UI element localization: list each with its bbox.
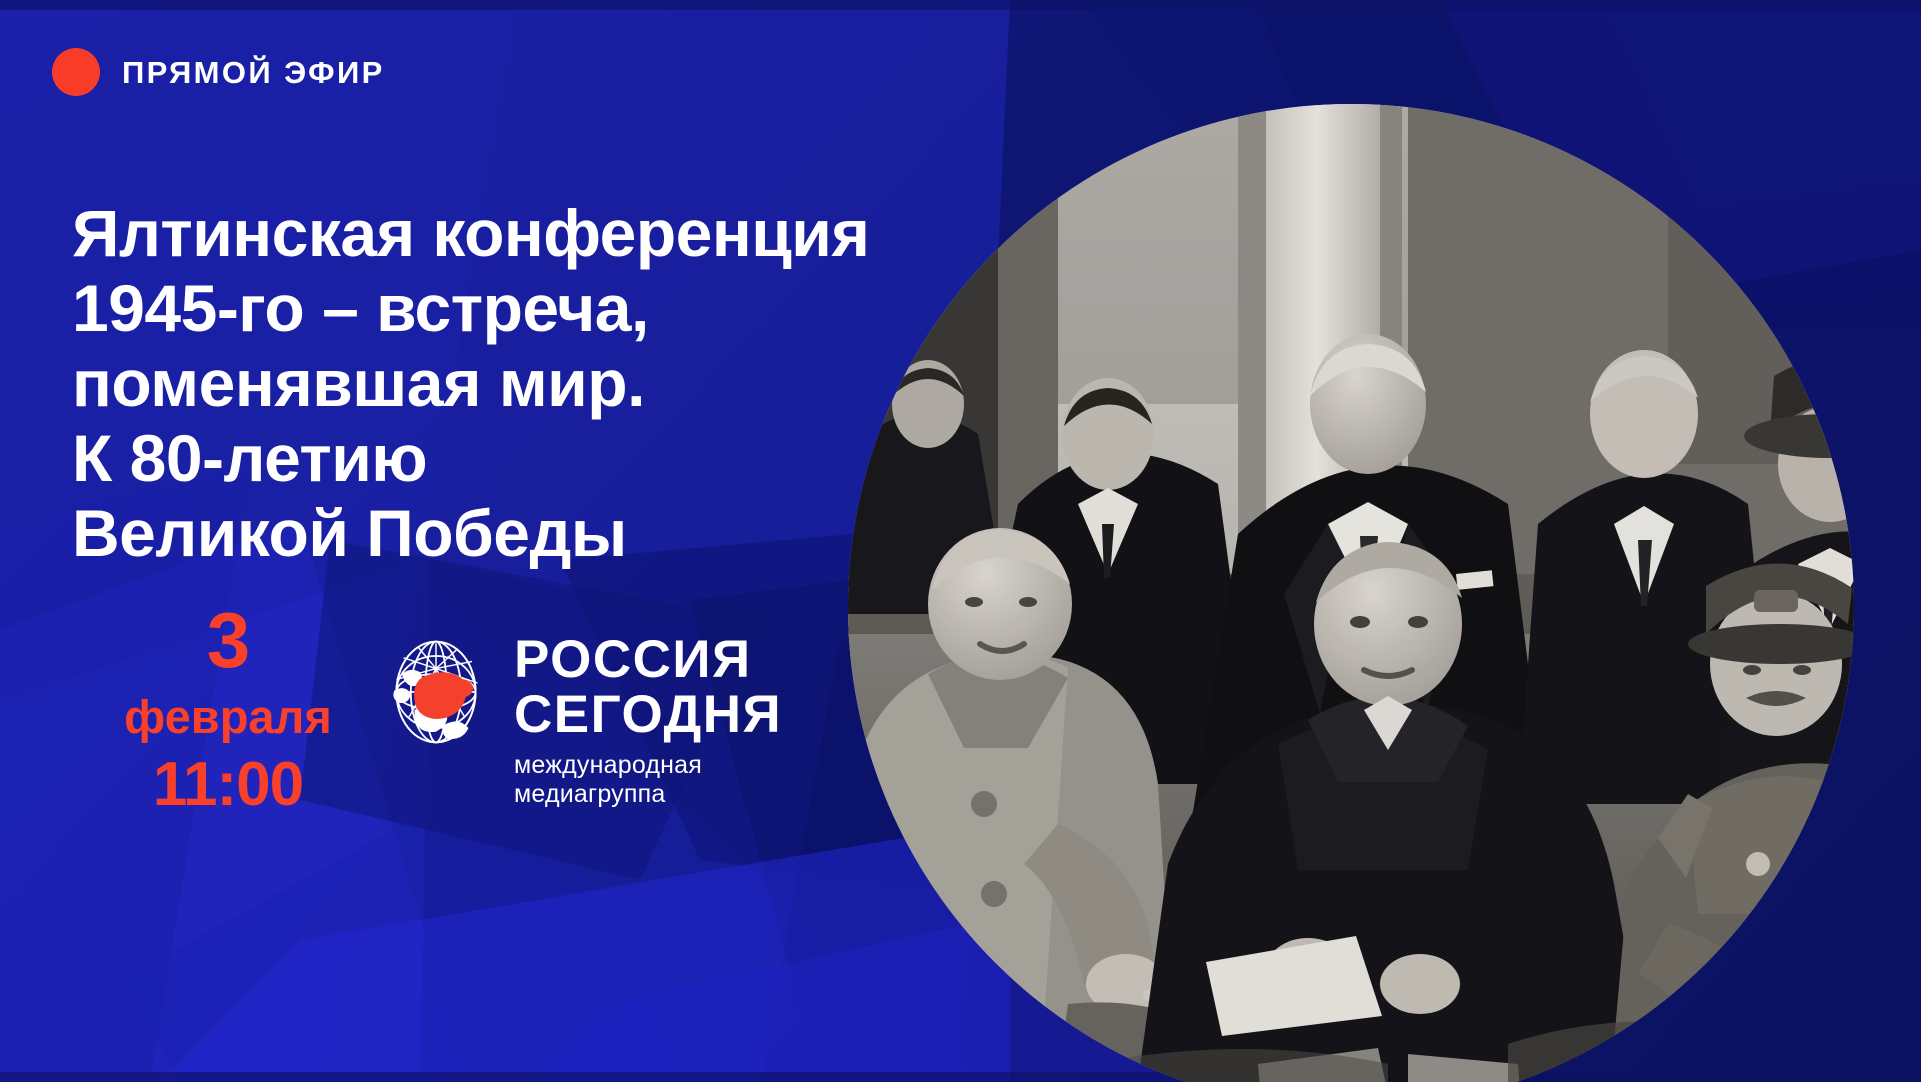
headline-line-4: К 80-летию <box>72 421 1032 496</box>
rossiya-segodnya-logo: РОССИЯ СЕГОДНЯ международная медиагруппа <box>382 632 782 809</box>
logo-wordmark: РОССИЯ СЕГОДНЯ международная медиагруппа <box>514 632 782 809</box>
headline-line-2: 1945-го – встреча, <box>72 271 1032 346</box>
live-dot-icon <box>52 48 100 96</box>
event-datetime: 3 февраля 11:00 <box>88 600 368 820</box>
event-month: февраля <box>88 688 368 747</box>
logo-sub-1: международная <box>514 751 782 780</box>
logo-sub-2: медиагруппа <box>514 780 782 809</box>
logo-line-1: РОССИЯ <box>514 632 782 687</box>
event-time: 11:00 <box>88 749 368 820</box>
announcement-banner: ПРЯМОЙ ЭФИР Ялтинская конференция 1945-г… <box>0 0 1921 1082</box>
event-day: 3 <box>88 600 368 682</box>
headline-line-5: Великой Победы <box>72 496 1032 571</box>
logo-line-2: СЕГОДНЯ <box>514 687 782 742</box>
headline-line-3: поменявшая мир. <box>72 346 1032 421</box>
page-title: Ялтинская конференция 1945-го – встреча,… <box>72 196 1032 571</box>
logo-tagline: международная медиагруппа <box>514 751 782 809</box>
live-badge-label: ПРЯМОЙ ЭФИР <box>122 57 385 88</box>
headline-line-1: Ялтинская конференция <box>72 196 1032 271</box>
globe-russia-icon <box>382 638 490 746</box>
live-badge: ПРЯМОЙ ЭФИР <box>52 48 385 96</box>
